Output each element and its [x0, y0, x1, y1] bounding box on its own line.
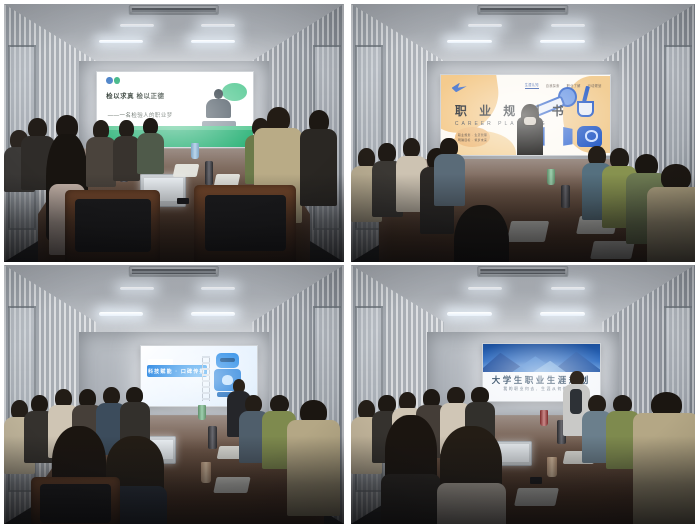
- attendee: [86, 120, 117, 182]
- photo-collage: 检以求真 检以正德 ——一名检验人的职业梦 主讲人 职业规划分享: [0, 0, 699, 527]
- chair: [65, 190, 160, 262]
- water-bottle: [191, 143, 199, 158]
- logo-mark-icon: [114, 77, 121, 84]
- slide-content: 生涯认知 自我探索 职业了解 行动规划: [441, 75, 610, 155]
- ceiling-light: [540, 312, 585, 316]
- paper-document: [590, 241, 635, 259]
- chair: [194, 185, 296, 262]
- slide-badge-line1: 职业规划 · 生涯管理: [458, 133, 487, 137]
- presenter-scarf: [524, 117, 537, 125]
- photo-bottom-left: 科技赋能 · 口碑传播: [4, 265, 344, 524]
- ceiling-light: [120, 24, 154, 27]
- air-conditioning-vent-icon: [477, 266, 568, 277]
- air-conditioning-vent-icon: [129, 266, 219, 277]
- pen-icon: [582, 86, 590, 103]
- projection-screen: 生涯认知 自我探索 职业了解 行动规划: [440, 74, 611, 156]
- robot-head: [216, 353, 239, 368]
- attendee-body: [137, 133, 164, 174]
- collage-panel-bottom-left[interactable]: 科技赋能 · 口碑传播: [0, 264, 348, 527]
- conference-room-scene: 生涯认知 自我探索 职业了解 行动规划: [351, 4, 695, 262]
- slide-tag: [148, 359, 173, 364]
- presenter-silhouette: [516, 105, 545, 155]
- mobile-phone: [530, 477, 542, 483]
- attendee-body: [437, 483, 506, 524]
- illustration-person-at-laptop: [198, 89, 239, 132]
- ceiling-light: [191, 312, 235, 316]
- slide-banner: 科技赋能 · 口碑传播: [147, 365, 207, 377]
- attendee-body: [633, 413, 695, 524]
- attendee-body: [86, 137, 117, 187]
- thermos-bottle: [208, 426, 217, 449]
- photo-top-left: 检以求真 检以正德 ——一名检验人的职业梦 主讲人 职业规划分享: [4, 4, 344, 262]
- conference-room-scene: 大学生职业生涯规划 我的职业何去、生涯从何做起？: [351, 265, 695, 524]
- slide-title-line1: 检以求真 检以正德: [106, 92, 187, 102]
- figure-head: [214, 89, 223, 99]
- trophy-icon: [577, 101, 594, 117]
- conference-room-scene: 检以求真 检以正德 ——一名检验人的职业梦 主讲人 职业规划分享: [4, 4, 344, 262]
- paper-document: [507, 221, 549, 242]
- attendee-foreground: [440, 426, 502, 524]
- chair: [31, 477, 119, 524]
- chair-back: [75, 199, 151, 252]
- paper-document: [514, 488, 559, 506]
- slide-title-cn: 职 业 规 划 书: [455, 102, 568, 119]
- attendee-foreground: [454, 205, 509, 262]
- book-icon: [553, 127, 572, 146]
- attendee-foreground: [637, 392, 695, 511]
- attendee-foreground: [650, 164, 695, 262]
- ceiling-light: [551, 287, 585, 290]
- ceiling-light: [468, 287, 502, 290]
- air-conditioning-vent-icon: [477, 5, 568, 15]
- ceiling-light: [99, 312, 143, 316]
- attendee-foreground: [290, 400, 338, 504]
- conference-room-scene: 科技赋能 · 口碑传播: [4, 265, 344, 524]
- ceiling-light: [120, 287, 154, 290]
- ceiling-light: [191, 40, 235, 44]
- ceiling-light: [201, 287, 235, 290]
- mobile-phone: [177, 198, 189, 204]
- logo-mark-icon: [106, 77, 113, 84]
- attendee: [434, 138, 465, 200]
- water-bottle: [540, 410, 548, 426]
- slide-banner-text: 科技赋能 · 口碑传播: [148, 368, 206, 375]
- water-bottle: [547, 169, 555, 184]
- backpack-icon: [577, 126, 601, 147]
- thermos-bottle: [205, 161, 214, 184]
- attendee-foreground: [385, 415, 437, 524]
- collage-panel-top-right[interactable]: 生涯认知 自我探索 职业了解 行动规划: [348, 0, 699, 264]
- ceiling-light: [551, 24, 585, 27]
- chair-back: [40, 484, 111, 523]
- ladder-icon: [202, 356, 210, 401]
- slide-logos: [106, 77, 120, 84]
- attendee-body: [287, 420, 340, 515]
- attendee-body: [434, 154, 465, 206]
- ceiling-light: [468, 24, 502, 27]
- ceiling-light: [540, 40, 585, 44]
- collage-panel-bottom-right[interactable]: 大学生职业生涯规划 我的职业何去、生涯从何做起？: [348, 264, 699, 527]
- paper-document: [173, 164, 200, 177]
- photo-top-right: 生涯认知 自我探索 职业了解 行动规划: [351, 4, 695, 262]
- ceiling-light: [201, 24, 235, 27]
- paper-cup: [547, 457, 557, 478]
- attendee: [300, 110, 337, 198]
- paper-document: [213, 477, 250, 493]
- ceiling-light: [447, 312, 492, 316]
- attendee-body: [647, 187, 695, 262]
- thermos-bottle: [561, 185, 570, 208]
- chair-back: [205, 195, 287, 251]
- attendee-body: [381, 474, 441, 524]
- ceiling-light: [99, 40, 143, 44]
- attendee-body: [300, 129, 337, 206]
- attendee: [137, 118, 164, 170]
- paper-cup: [201, 462, 211, 483]
- attendee-hair: [454, 205, 509, 262]
- water-bottle: [198, 405, 206, 421]
- collage-panel-top-left[interactable]: 检以求真 检以正德 ——一名检验人的职业梦 主讲人 职业规划分享: [0, 0, 348, 264]
- air-conditioning-vent-icon: [129, 5, 219, 15]
- ceiling-light: [447, 40, 492, 44]
- photo-bottom-right: 大学生职业生涯规划 我的职业何去、生涯从何做起？: [351, 265, 695, 524]
- figure-body: [206, 99, 231, 117]
